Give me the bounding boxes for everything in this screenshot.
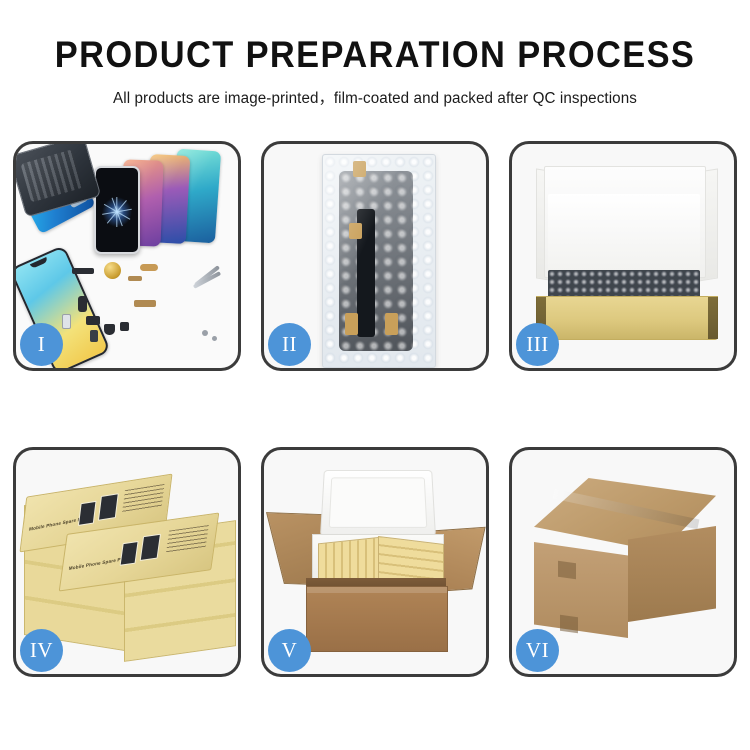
header: PRODUCT PREPARATION PROCESS All products… bbox=[0, 0, 750, 108]
step-badge-5: V bbox=[268, 629, 311, 672]
step-badge-2: II bbox=[268, 323, 311, 366]
product-preparation-infographic: PRODUCT PREPARATION PROCESS All products… bbox=[0, 0, 750, 750]
foam-sheet bbox=[548, 194, 700, 272]
carton-tape bbox=[558, 561, 576, 580]
step-panel-4[interactable]: Mobile Phone Spare Parts Mobile Phone Sp… bbox=[13, 447, 241, 677]
spare-part bbox=[62, 314, 71, 329]
step-badge-6: VI bbox=[516, 629, 559, 672]
spare-part bbox=[78, 296, 87, 312]
page-title: PRODUCT PREPARATION PROCESS bbox=[26, 36, 724, 75]
screw bbox=[202, 330, 208, 336]
screw bbox=[212, 336, 217, 341]
step-panel-6[interactable]: VI bbox=[509, 447, 737, 677]
carton-side-face bbox=[628, 526, 716, 622]
spare-part bbox=[72, 268, 94, 274]
flex-cable bbox=[128, 276, 142, 281]
steps-grid: I II bbox=[13, 141, 737, 677]
box-phone-image bbox=[120, 541, 139, 566]
step-panel-2[interactable]: II bbox=[261, 141, 489, 371]
box-phone-image bbox=[98, 493, 119, 521]
box-spec-lines bbox=[122, 484, 164, 513]
shipping-carton-open bbox=[306, 586, 448, 652]
box-spec-lines bbox=[166, 525, 209, 553]
box-phone-image bbox=[140, 534, 161, 561]
step-panel-1[interactable]: I bbox=[13, 141, 241, 371]
flex-cable bbox=[140, 264, 158, 271]
carton-front-face bbox=[534, 542, 628, 638]
box-phone-image bbox=[78, 501, 97, 526]
plastic-gloss bbox=[323, 155, 435, 367]
gold-component bbox=[104, 262, 121, 279]
spare-part bbox=[120, 322, 129, 331]
foam-lid bbox=[320, 470, 436, 536]
page-subtitle: All products are image-printed，film-coat… bbox=[8, 86, 743, 108]
step-badge-3: III bbox=[516, 323, 559, 366]
step-badge-1: I bbox=[20, 323, 63, 366]
step-panel-3[interactable]: III bbox=[509, 141, 737, 371]
step-panel-5[interactable]: V bbox=[261, 447, 489, 677]
spare-part bbox=[90, 330, 98, 342]
phone-black-glass bbox=[94, 166, 140, 254]
screw-tray bbox=[100, 292, 130, 318]
flex-cable bbox=[134, 300, 156, 307]
step-badge-4: IV bbox=[20, 629, 63, 672]
carton-tape bbox=[560, 615, 578, 634]
spare-part bbox=[86, 316, 100, 325]
yellow-inner-box bbox=[536, 296, 718, 340]
spare-part bbox=[104, 324, 115, 335]
bubble-wrap-bag bbox=[322, 154, 436, 368]
